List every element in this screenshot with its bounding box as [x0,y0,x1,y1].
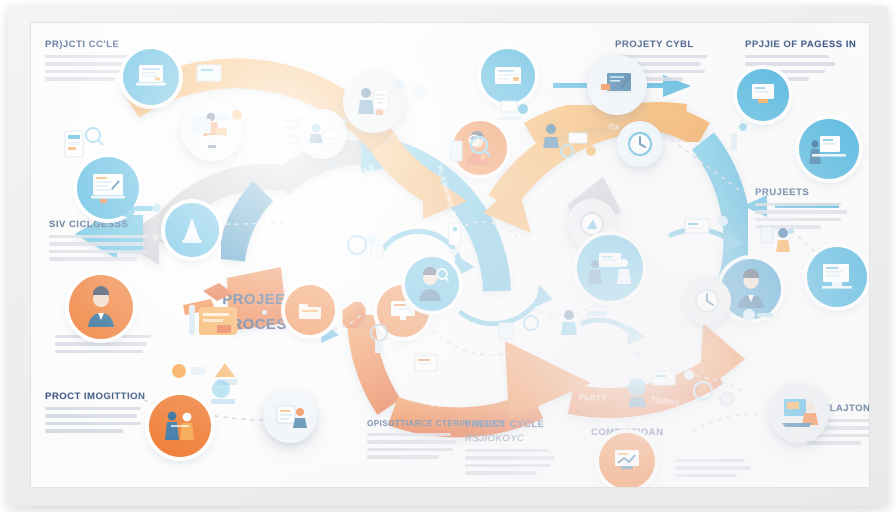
decor-cluster-2 [119,201,161,217]
decor-cluster-5 [447,223,461,257]
decor-cluster-12 [561,310,607,335]
decor-cluster-6 [451,137,490,161]
decor-cluster-20 [731,123,747,151]
decor-cluster-17 [197,65,221,81]
decor-cluster-21 [761,227,790,252]
decor-cluster-24 [86,128,103,145]
decor-cluster-3 [191,110,242,145]
decor-cluster-15 [172,363,237,385]
decor-layer [31,23,869,487]
decor-cluster-4 [348,234,384,258]
decor-cluster-8 [543,124,596,157]
decor-cluster-11 [499,316,538,339]
decor-cluster-22 [394,80,427,101]
decor-cluster-9 [685,216,728,233]
decor-cluster-10 [371,325,387,353]
decor-cluster-1 [65,131,83,157]
decor-cluster-13 [653,370,734,406]
decor-cluster-23 [415,355,437,371]
infographic-canvas: OVURDH STEPS PLANS CYCLE PLANNING STAGE … [0,0,896,512]
decor-cluster-7 [497,101,528,120]
decor-cluster-14 [628,378,646,407]
decor-cluster-25 [743,309,773,321]
poster-canvas: OVURDH STEPS PLANS CYCLE PLANNING STAGE … [30,22,870,488]
